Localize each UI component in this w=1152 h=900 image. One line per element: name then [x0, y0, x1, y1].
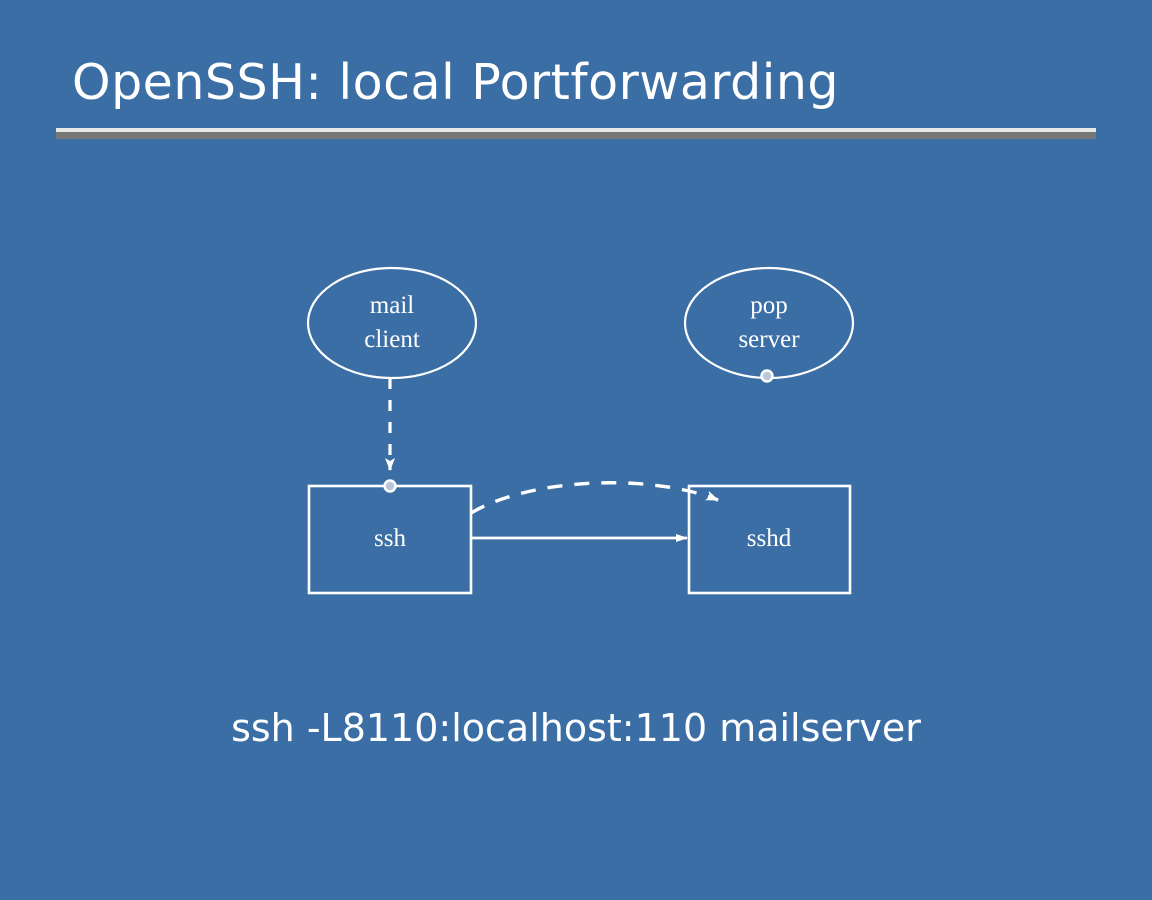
ssh-to-sshd-tunnel-path	[471, 483, 718, 513]
command-caption: ssh -L8110:localhost:110 mailserver	[0, 706, 1152, 750]
mail-client-label-line1: mail	[370, 292, 414, 319]
ssh-local-port-dot[interactable]	[385, 481, 396, 492]
pop-server-port-dot[interactable]	[762, 371, 773, 382]
portforwarding-diagram: mail client pop server ssh	[0, 0, 1152, 900]
mail-client-label-line2: client	[364, 326, 420, 353]
pop-server-ellipse	[685, 268, 853, 378]
slide-canvas: OpenSSH: local Portforwarding	[0, 0, 1152, 900]
ssh-label: ssh	[374, 525, 406, 552]
node-sshd[interactable]: sshd	[689, 486, 850, 593]
node-pop-server[interactable]: pop server	[685, 268, 853, 382]
sshd-label: sshd	[747, 525, 792, 552]
pop-server-label-line1: pop	[750, 292, 788, 319]
node-ssh[interactable]: ssh	[309, 481, 471, 594]
connector-ssh-to-sshd-tunnel	[471, 483, 718, 513]
pop-server-label-line2: server	[738, 326, 800, 353]
mail-client-ellipse	[308, 268, 476, 378]
node-mail-client[interactable]: mail client	[308, 268, 476, 378]
